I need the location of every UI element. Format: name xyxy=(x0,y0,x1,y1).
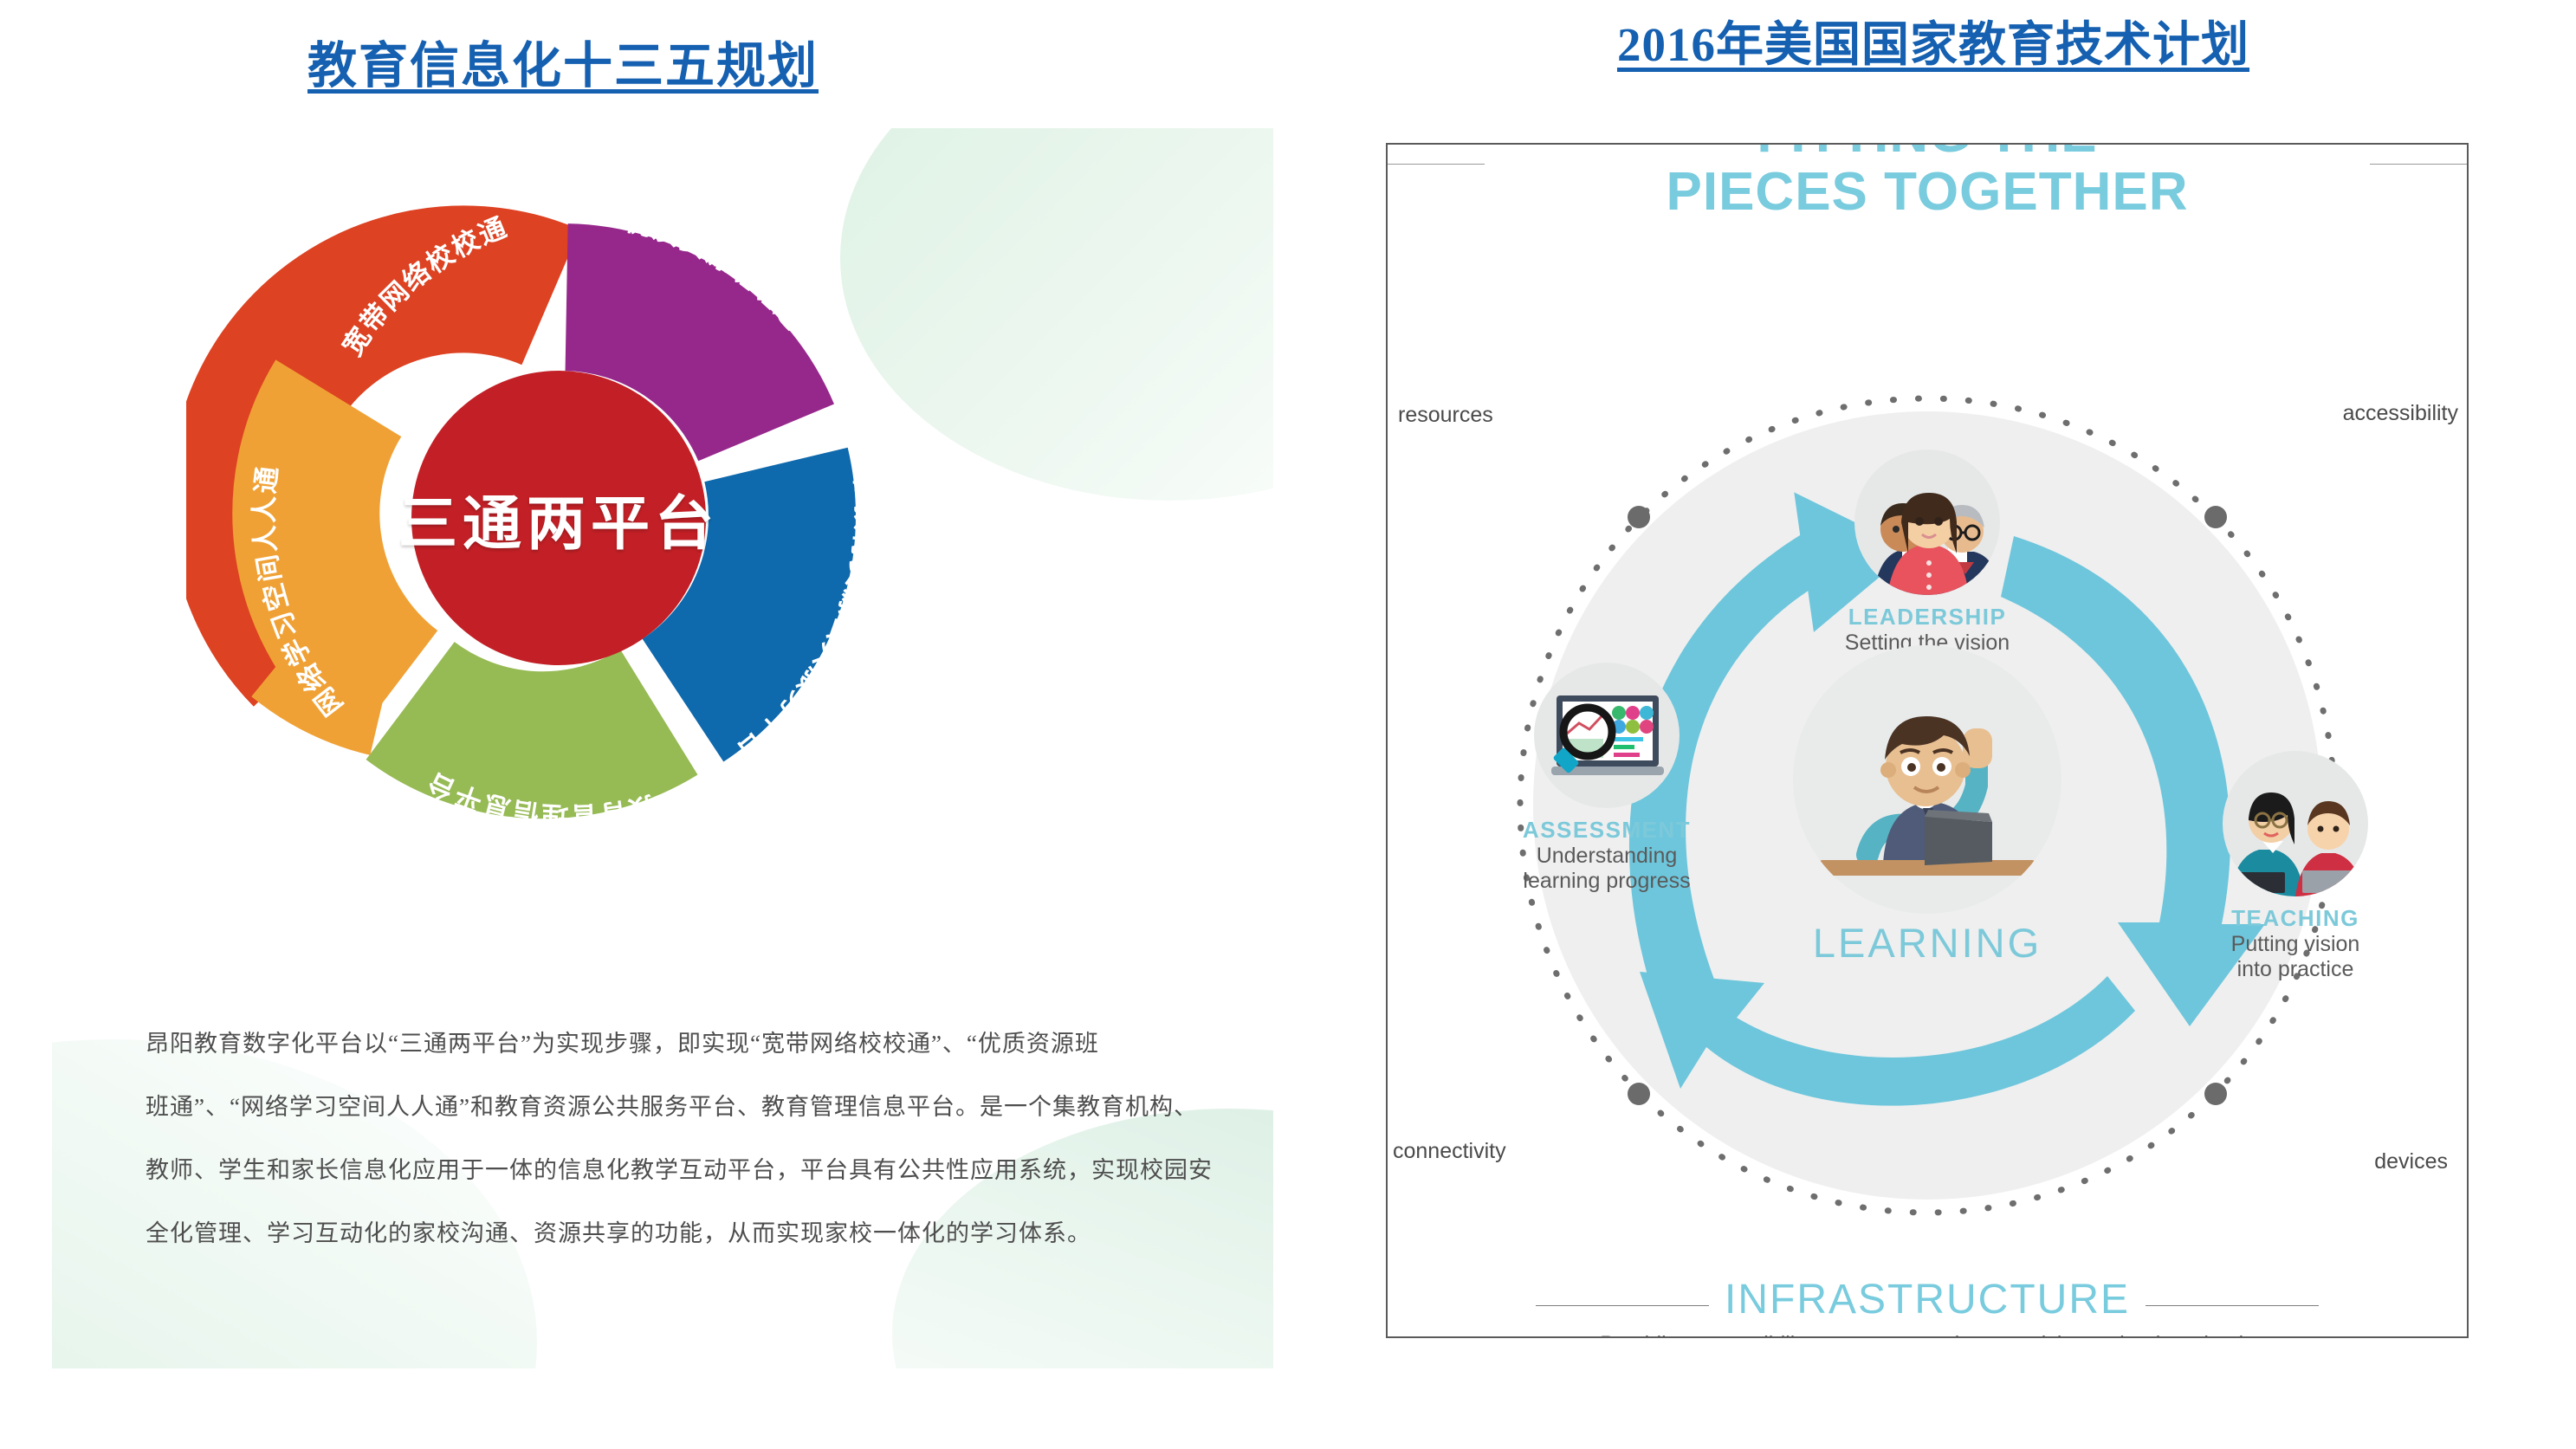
leadership-title: LEADERSHIP xyxy=(1784,604,2070,631)
infrastructure-title-text: INFRASTRUCTURE xyxy=(1725,1277,2130,1323)
learning-title: LEARNING xyxy=(1745,919,2109,967)
infrastructure-title: INFRASTRUCTURE xyxy=(1725,1276,2130,1323)
teaching-subtitle: Putting vision into practice xyxy=(2165,932,2425,982)
node-assessment: ASSESSMENT Understanding learning progre… xyxy=(1464,663,1750,894)
paragraph-line-4: 全化管理、学习互动化的家校沟通、资源共享的功能，从而实现家校一体化的学习体系。 xyxy=(146,1220,1202,1247)
leadership-icon xyxy=(1854,450,2000,595)
assessment-icon xyxy=(1534,663,1680,808)
assessment-subtitle: Understanding learning progress xyxy=(1464,844,1750,894)
footer-rule-right xyxy=(2146,1305,2319,1306)
right-slide-panel: 2016年美国国家教育技术计划 FITTING THE PIECES TOGET… xyxy=(1291,0,2576,1449)
donut-center-disc xyxy=(411,371,706,665)
headline-rule-right xyxy=(2370,164,2467,165)
left-slide-panel: 教育信息化十三五规划 xyxy=(0,0,1291,1449)
teaching-title: TEACHING xyxy=(2165,905,2425,932)
donut-chart: 宽带网络校校通 优质资源班班通 和教育资源公共服务平台 教育管理信息平台 网络学… xyxy=(186,146,931,890)
donut-segment-orange-body xyxy=(306,398,392,689)
teaching-icon xyxy=(2223,751,2368,896)
arrow-teaching-to-assessment xyxy=(1640,972,2135,1106)
node-learning: LEARNING xyxy=(1745,645,2109,967)
ring-label-connectivity: connectivity xyxy=(1393,1139,1506,1164)
learning-icon xyxy=(1793,645,2061,914)
assessment-title: ASSESSMENT xyxy=(1464,817,1750,844)
node-teaching: TEACHING Putting vision into practice xyxy=(2165,751,2425,982)
infrastructure-subtitle: Providing accessibility, resources and c… xyxy=(1388,1330,2467,1336)
paragraph-line-2: 班通”、“网络学习空间人人通”和教育资源公共服务平台、教育管理信息平台。是一个集… xyxy=(146,1094,1202,1121)
ring-label-accessibility: accessibility xyxy=(2343,401,2458,426)
right-panel-title: 2016年美国国家教育技术计划 xyxy=(1291,5,2576,74)
donut-segment-green xyxy=(411,701,659,745)
paragraph-line-3: 教师、学生和家长信息化应用于一体的信息化教学互动平台，平台具有公共性应用系统，实… xyxy=(146,1157,1202,1184)
ring-label-resources: resources xyxy=(1398,403,1493,428)
poster-frame: FITTING THE PIECES TOGETHER xyxy=(1386,143,2469,1338)
headline-line-1: FITTING THE xyxy=(1388,145,2467,164)
node-leadership: LEADERSHIP Setting the vision xyxy=(1784,450,2070,656)
left-figure-image: 宽带网络校校通 优质资源班班通 和教育资源公共服务平台 教育管理信息平台 网络学… xyxy=(52,128,1273,1368)
footer-rule-left xyxy=(1536,1305,1709,1306)
ring-label-devices: devices xyxy=(2374,1149,2448,1174)
headline-line-2: PIECES TOGETHER xyxy=(1388,164,2467,222)
left-panel-title: 教育信息化十三五规划 xyxy=(0,26,1126,97)
paragraph-line-1: 昂阳教育数字化平台以“三通两平台”为实现步骤，即实现“宽带网络校校通”、“优质资… xyxy=(146,1031,1202,1058)
headline-rule-left xyxy=(1388,164,1485,165)
left-description-paragraph: 昂阳教育数字化平台以“三通两平台”为实现步骤，即实现“宽带网络校校通”、“优质资… xyxy=(146,1031,1202,1284)
poster-headline: FITTING THE PIECES TOGETHER xyxy=(1388,145,2467,222)
poster-footer: INFRASTRUCTURE Providing accessibility, … xyxy=(1388,1276,2467,1336)
poster-content: FITTING THE PIECES TOGETHER xyxy=(1388,145,2467,1336)
infrastructure-subtitle-line-1: Providing accessibility, resources and c… xyxy=(1600,1332,2254,1336)
